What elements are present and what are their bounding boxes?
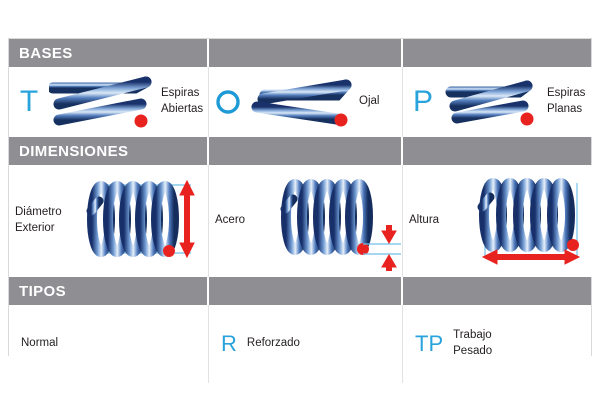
section-header-bases: BASES xyxy=(9,39,591,67)
section-header-dimensiones: DIMENSIONES xyxy=(9,137,591,165)
spring-loop-coil-icon xyxy=(249,75,353,129)
spring-flat-coil-icon xyxy=(443,76,541,128)
base-caption-p: Espiras Planas xyxy=(547,86,600,117)
tipo-cell-trabajo-pesado[interactable]: TP Trabajo Pesado xyxy=(403,305,591,383)
base-cell-t[interactable]: T xyxy=(9,67,209,137)
header-cell-bases-3 xyxy=(403,39,591,67)
dimension-cell-altura[interactable]: Altura xyxy=(403,165,600,277)
dimension-cell-diametro-exterior[interactable]: Diámetro Exterior xyxy=(9,165,209,277)
dimension-label-diametro-exterior: Diámetro Exterior xyxy=(15,205,69,236)
base-code-o xyxy=(215,87,243,117)
row-dimensiones: Diámetro Exterior xyxy=(9,165,591,277)
tipo-code-r: R xyxy=(221,333,237,355)
header-cell-tipos-1: TIPOS xyxy=(9,277,209,305)
header-cell-dim-1: DIMENSIONES xyxy=(9,137,209,165)
header-cell-tipos-2 xyxy=(209,277,403,305)
row-bases: T xyxy=(9,67,591,137)
spec-sheet: BASES T xyxy=(8,38,592,356)
spring-open-coil-icon xyxy=(49,74,155,130)
section-header-tipos: TIPOS xyxy=(9,277,591,305)
section-title-tipos: TIPOS xyxy=(9,283,66,300)
header-cell-tipos-3 xyxy=(403,277,591,305)
dimension-label-acero: Acero xyxy=(215,213,269,229)
base-code-t: T xyxy=(15,87,43,117)
row-tipos: Normal R Reforzado TP Trabajo Pesado xyxy=(9,305,591,383)
tipo-cell-normal[interactable]: Normal xyxy=(9,305,209,383)
spring-coil-horizontal-arrow-icon xyxy=(463,165,600,277)
dimension-label-altura: Altura xyxy=(409,213,463,229)
section-title-dimensiones: DIMENSIONES xyxy=(9,143,128,160)
header-cell-dim-2 xyxy=(209,137,403,165)
spring-coil-wire-arrows-icon xyxy=(269,165,409,277)
base-cell-p[interactable]: P xyxy=(403,67,600,137)
header-cell-bases-2 xyxy=(209,39,403,67)
header-cell-dim-3 xyxy=(403,137,591,165)
base-code-p: P xyxy=(409,87,437,117)
tipo-code-tp: TP xyxy=(415,333,443,355)
base-cell-o[interactable]: Ojal xyxy=(209,67,403,137)
tipo-cell-reforzado[interactable]: R Reforzado xyxy=(209,305,403,383)
header-cell-bases-1: BASES xyxy=(9,39,209,67)
tipo-label-normal: Normal xyxy=(21,336,58,352)
tipo-label-trabajo-pesado: Trabajo Pesado xyxy=(453,328,492,359)
tipo-label-reforzado: Reforzado xyxy=(247,336,300,352)
spring-coil-vertical-arrow-icon xyxy=(69,165,209,277)
dimension-cell-acero[interactable]: Acero xyxy=(209,165,403,277)
section-title-bases: BASES xyxy=(9,45,73,62)
